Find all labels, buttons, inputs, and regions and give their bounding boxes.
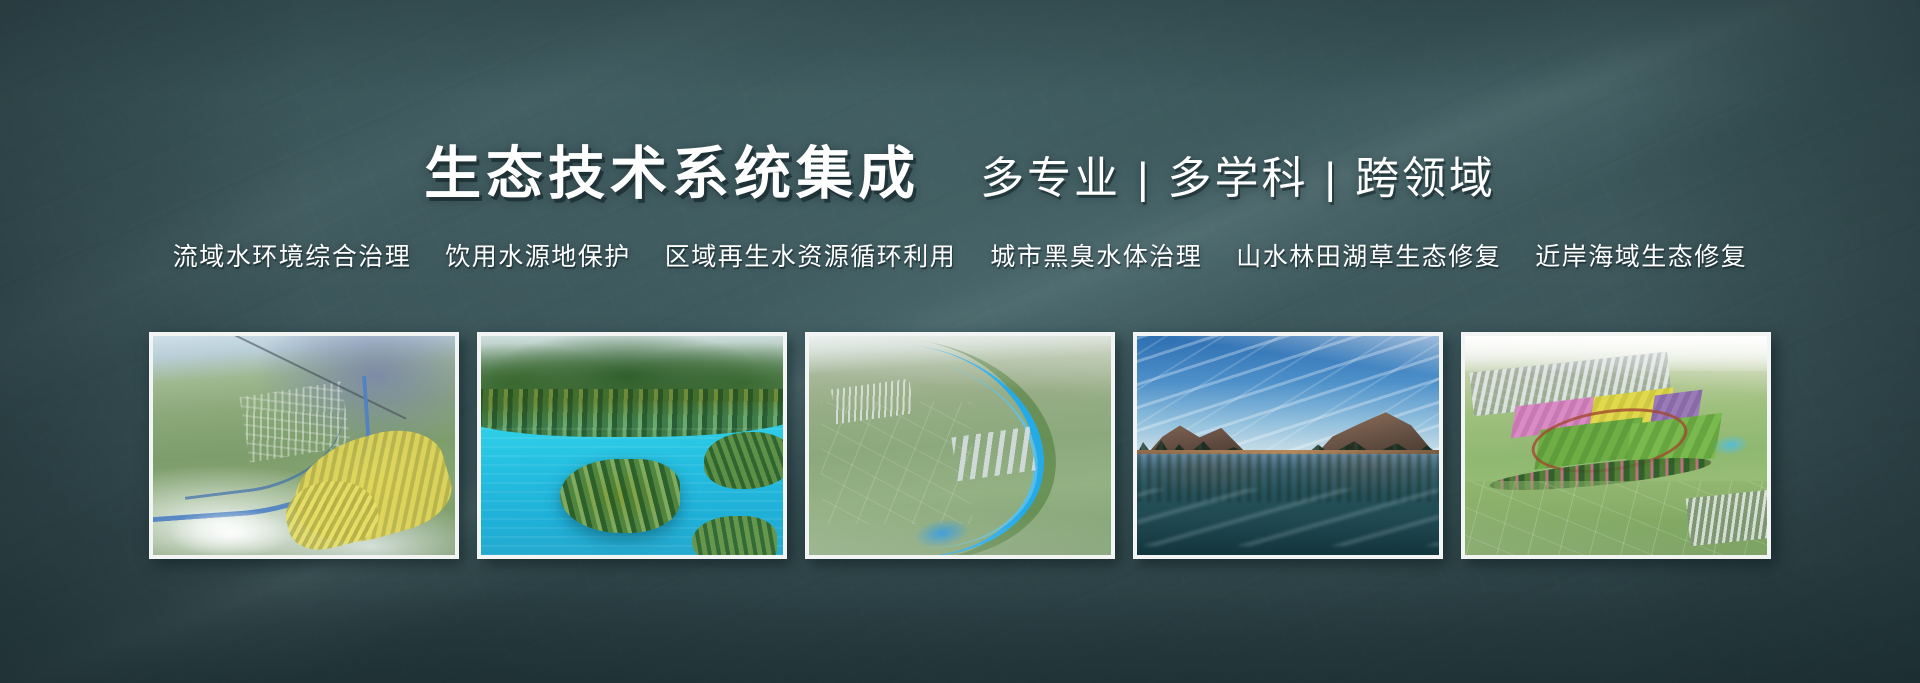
tagline-part-3: 跨领域 (1355, 154, 1496, 203)
thumbnail-5[interactable] (1461, 332, 1771, 559)
atmosphere-haze (1465, 336, 1767, 555)
island-shape-1 (560, 459, 681, 533)
thumbnail-1[interactable] (149, 332, 459, 559)
service-item-2[interactable]: 饮用水源地保护 (445, 237, 631, 273)
banner-tagline: 多专业|多学科|跨领域 (980, 142, 1496, 206)
atmosphere-haze (809, 336, 1111, 555)
thumbnail-4-image (1137, 336, 1439, 555)
headline-row: 生态技术系统集成 多专业|多学科|跨领域 (0, 128, 1920, 210)
service-item-1[interactable]: 流域水环境综合治理 (173, 237, 412, 273)
service-item-4[interactable]: 城市黑臭水体治理 (990, 237, 1202, 273)
cloud-reflection-shape (1137, 489, 1439, 546)
thumbnail-5-image (1465, 336, 1767, 555)
banner-content: 生态技术系统集成 多专业|多学科|跨领域 流域水环境综合治理 饮用水源地保护 区… (0, 0, 1920, 683)
thumbnail-gallery (0, 332, 1920, 559)
service-list: 流域水环境综合治理 饮用水源地保护 区域再生水资源循环利用 城市黑臭水体治理 山… (0, 237, 1920, 273)
thumbnail-1-image (153, 336, 455, 555)
island-shape-2 (704, 432, 787, 489)
tagline-separator-2: | (1309, 154, 1355, 203)
hero-banner: 生态技术系统集成 多专业|多学科|跨领域 流域水环境综合治理 饮用水源地保护 区… (0, 0, 1920, 683)
service-item-5[interactable]: 山水林田湖草生态修复 (1236, 237, 1501, 273)
thumbnail-2-image (481, 336, 783, 555)
island-shape-3 (692, 516, 777, 559)
thumbnail-3[interactable] (805, 332, 1115, 559)
banner-headline: 生态技术系统集成 (424, 128, 920, 210)
tagline-part-1: 多专业 (980, 154, 1121, 203)
service-item-6[interactable]: 近岸海域生态修复 (1535, 237, 1747, 273)
thumbnail-2[interactable] (477, 332, 787, 559)
thumbnail-3-image (809, 336, 1111, 555)
thumbnail-4[interactable] (1133, 332, 1443, 559)
service-item-3[interactable]: 区域再生水资源循环利用 (665, 237, 957, 273)
cloud-shape (149, 498, 322, 559)
tagline-part-2: 多学科 (1168, 154, 1309, 203)
tagline-separator-1: | (1121, 154, 1167, 203)
